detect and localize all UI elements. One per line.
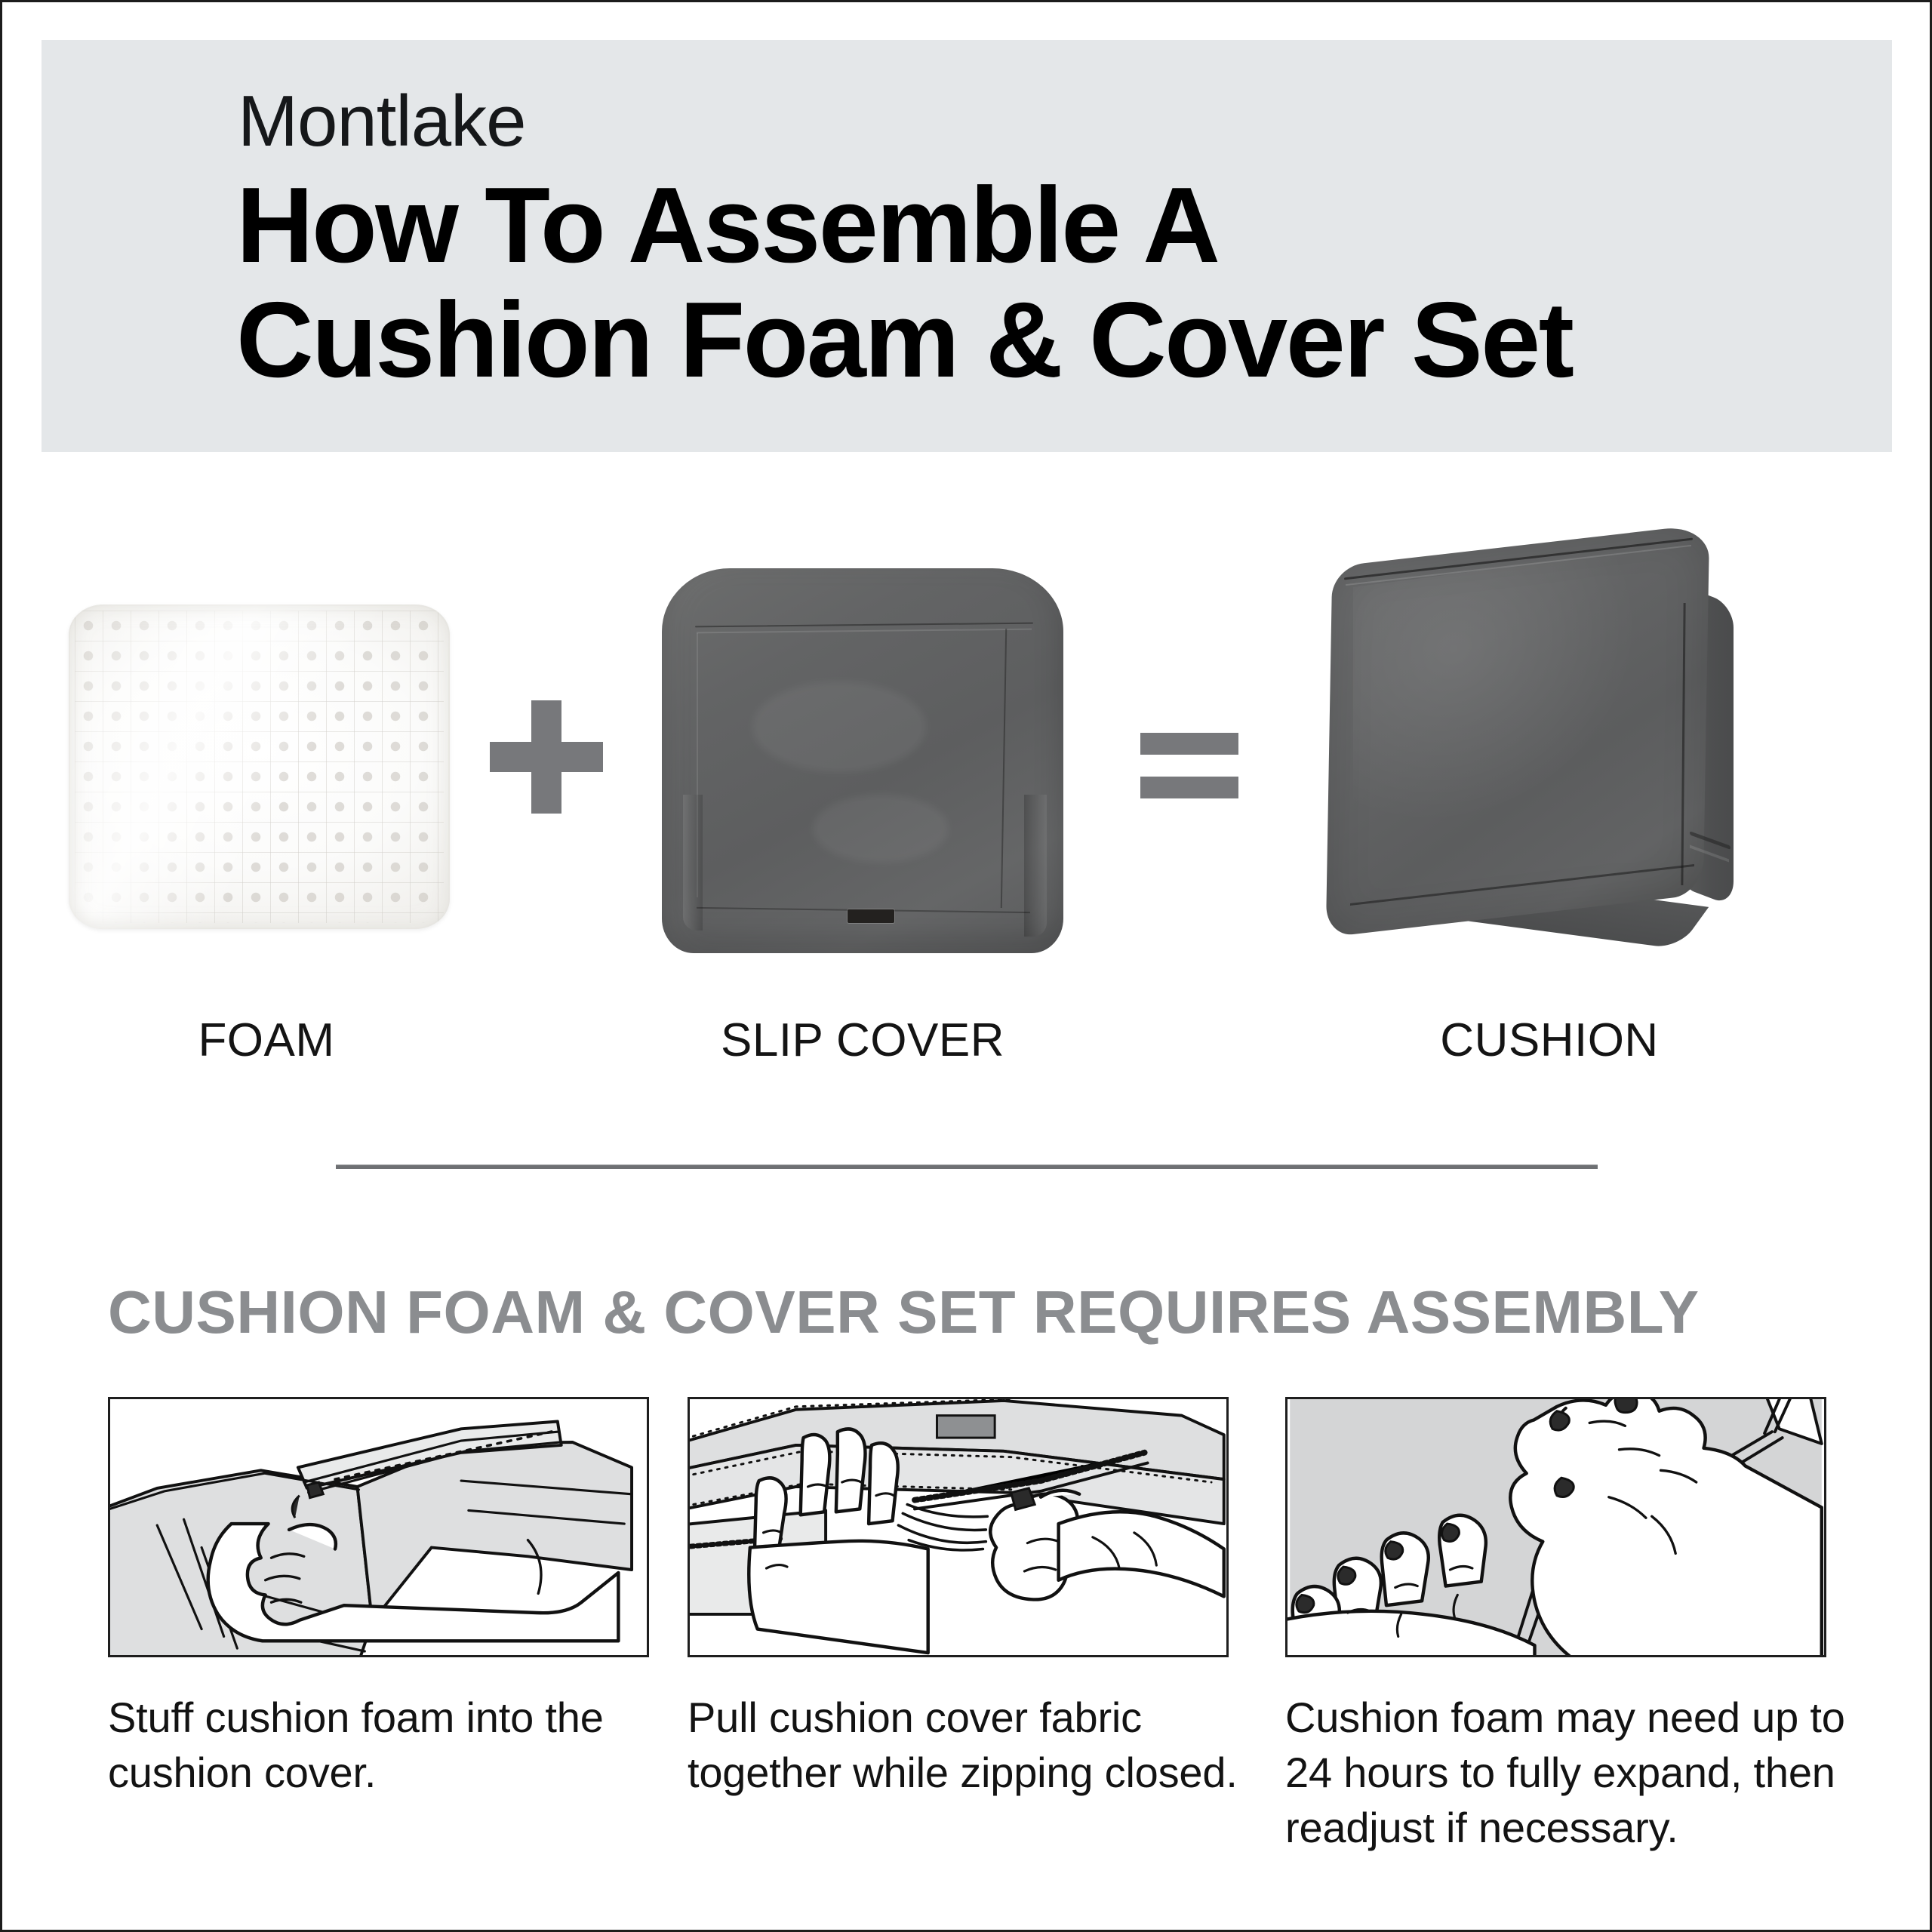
assembly-step-2: Pull cushion cover fabric together while…	[688, 1397, 1229, 1801]
plus-operator	[490, 700, 603, 814]
assembly-step-1-caption: Stuff cushion foam into the cushion cove…	[108, 1690, 681, 1801]
page-title: How To Assemble A Cushion Foam & Cover S…	[236, 168, 1859, 398]
cushion-icon	[1308, 531, 1791, 998]
assembly-step-1: Stuff cushion foam into the cushion cove…	[108, 1397, 649, 1801]
equals-operator	[1140, 733, 1238, 808]
product-labels-row: FOAM SLIP COVER CUSHION	[2, 1014, 1932, 1074]
section-divider	[336, 1164, 1598, 1169]
stuff-foam-into-cover-illustration	[108, 1397, 649, 1657]
product-slip-cover	[636, 523, 1089, 1006]
assembly-section-heading: CUSHION FOAM & COVER SET REQUIRES ASSEMB…	[108, 1278, 1700, 1347]
product-foam	[48, 523, 485, 1006]
headline-line-2: Cushion Foam & Cover Set	[236, 283, 1859, 398]
foam-pillow-icon	[69, 605, 450, 929]
product-label-foam: FOAM	[48, 1014, 485, 1067]
product-label-slip-cover: SLIP COVER	[636, 1014, 1089, 1067]
assembly-step-3: Cushion foam may need up to 24 hours to …	[1285, 1397, 1826, 1855]
product-cushion	[1300, 523, 1798, 1006]
brand-name: Montlake	[238, 85, 526, 158]
foam-expand-readjust-illustration	[1285, 1397, 1826, 1657]
slip-cover-icon	[651, 562, 1074, 970]
pull-fabric-while-zipping-illustration	[688, 1397, 1229, 1657]
product-equation-row	[2, 523, 1932, 1006]
assembly-steps: Stuff cushion foam into the cushion cove…	[2, 1397, 1932, 1895]
assembly-step-2-caption: Pull cushion cover fabric together while…	[688, 1690, 1261, 1801]
product-label-cushion: CUSHION	[1300, 1014, 1798, 1067]
headline-line-1: How To Assemble A	[236, 165, 1218, 285]
assembly-step-3-caption: Cushion foam may need up to 24 hours to …	[1285, 1690, 1881, 1855]
brand-label-tag	[848, 909, 894, 923]
infographic-page: Montlake How To Assemble A Cushion Foam …	[0, 0, 1932, 1932]
header-band: Montlake How To Assemble A Cushion Foam …	[42, 40, 1892, 452]
